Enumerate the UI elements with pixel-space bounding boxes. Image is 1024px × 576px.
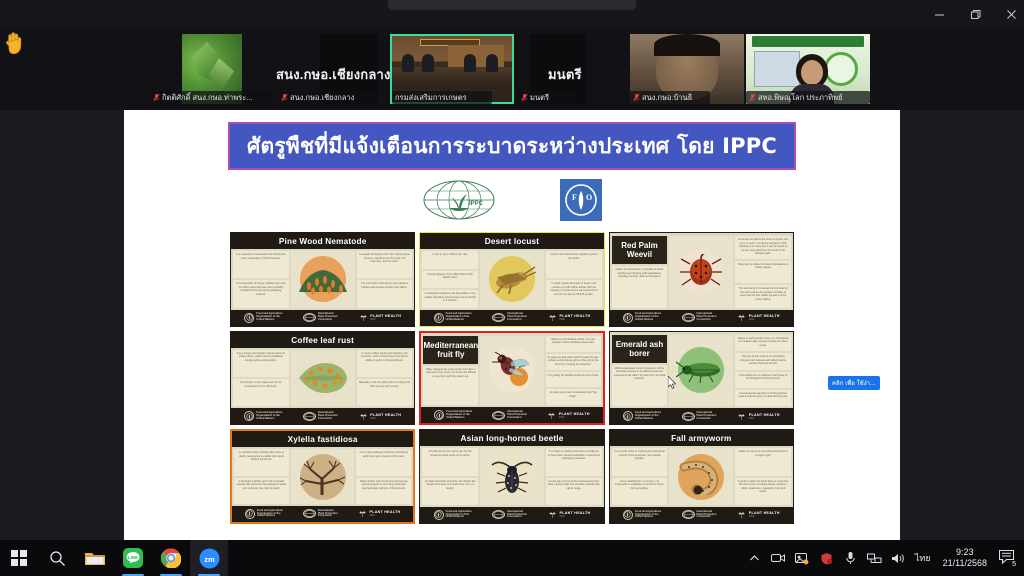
card-title: Asian long-horned beetle (420, 430, 603, 446)
clock-date: 21/11/2568 (943, 558, 987, 569)
footer-line3: Convention (318, 418, 338, 421)
card-body: Mediterranean fruit fly Baby maggots are… (421, 333, 602, 408)
card-body: Emerald ash borer Without adequate contr… (610, 332, 793, 409)
pest-card-coffee-leaf-rust[interactable]: Coffee leaf rust It is a fungus that att… (230, 331, 415, 426)
plant-health-year: 2020 (559, 416, 590, 419)
footer-line3: Convention (507, 417, 527, 420)
card-body: It is a species of nematode that infects… (231, 249, 414, 310)
footer-line3: United Nations (446, 417, 472, 420)
mute-icon (153, 93, 160, 102)
card-body: It is a fungus that attacks mainly leave… (231, 348, 414, 409)
plant-health-footer-logo: PLANT HEALTH2020 (547, 410, 590, 420)
pest-card-pine-wood-nematode[interactable]: Pine Wood Nematode It is a species of ne… (230, 232, 415, 327)
chrome-icon (161, 548, 181, 568)
clock-time: 9:23 (943, 547, 987, 558)
fao-footer-logo: Food and AgricultureOrganization of theU… (623, 313, 661, 323)
person-hair (654, 34, 720, 56)
fao-footer-logo: Food and AgricultureOrganization of theU… (434, 313, 472, 323)
card-title: Mediterranean fruit fly (423, 336, 478, 364)
card-footer: Food and AgricultureOrganization of theU… (420, 507, 603, 523)
restore-icon[interactable] (956, 0, 994, 28)
card-fact: A single square kilometer of swarm can c… (546, 280, 602, 307)
card-fact: It is a fungus that attacks mainly leave… (233, 350, 289, 377)
ippc-footer-logo: InternationalPlant ProtectionConvention (682, 412, 717, 421)
fao-footer-logo: Food and AgricultureOrganization of theU… (244, 313, 282, 323)
card-fact: It is a moth native to tropical and subt… (612, 448, 668, 475)
pest-card-emerald-ash-borer[interactable]: Emerald ash borer Without adequate contr… (609, 331, 794, 426)
card-fact: It covers coffee leaves and destroys cel… (357, 350, 413, 377)
participant-tile[interactable] (630, 34, 744, 104)
footer-line3: United Nations (446, 516, 472, 519)
show-hidden-icons-chevron[interactable] (747, 551, 762, 566)
virtual-background-banner (752, 36, 864, 47)
card-title: Xylella fastidiosa (232, 431, 413, 447)
card-fact: It spreads throughout the resin canal sy… (357, 251, 413, 278)
card-fact: It is a species of nematode that infects… (233, 251, 289, 278)
mute-icon (281, 93, 288, 102)
camera-icon[interactable] (771, 551, 786, 566)
footer-line3: United Nations (256, 418, 282, 421)
plant-health-year: 2020 (560, 515, 591, 518)
plant-health-footer-logo: PLANT HEALTH2020 (358, 411, 401, 421)
notification-count: 5 (1010, 560, 1018, 569)
card-body: In Southern Italy it attacks olive trees… (232, 447, 413, 506)
fao-logo: F O (560, 179, 602, 221)
ippc-footer-logo: InternationalPlant ProtectionConvention (682, 510, 717, 519)
logo-row: IPPC F O (228, 174, 796, 226)
footer-line3: United Nations (257, 515, 283, 518)
ippc-footer-logo: InternationalPlant ProtectionConvention (492, 411, 527, 420)
footer-line3: Convention (697, 319, 717, 322)
plant-health-year: 2020 (560, 318, 591, 321)
card-fact: Native to sub-Saharan Africa, it is now … (546, 336, 601, 352)
participant-filmstrip: กิตติศักดิ์ สนง.กษอ.ท่าพระ... สนง.กษอ.เช… (0, 28, 1024, 110)
fao-footer-logo: Food and AgricultureOrganization of theU… (623, 411, 661, 421)
card-fact: Its eggs are deposited right beneath the… (546, 354, 601, 370)
zoom-app-icon: zm (199, 548, 220, 569)
person-silhouette (402, 54, 414, 72)
card-footer: Food and AgricultureOrganization of theU… (610, 310, 793, 326)
card-fact: It is the most destructive migratory pes… (546, 251, 602, 278)
line-app-icon: LINE (123, 548, 143, 568)
card-illustration (669, 335, 733, 407)
card-fact: Dogs can be trained to detect infestatio… (735, 261, 791, 284)
person-figure (790, 54, 834, 104)
card-fact: Native to north-eastern Asia, it is cons… (735, 335, 791, 351)
footer-line3: Convention (507, 319, 527, 322)
presentation-slide: ศัตรูพืชที่มีแจ้งเตือนการระบาดระหว่างประ… (228, 122, 796, 528)
card-fact: Its Latin name can be translated into "b… (546, 389, 601, 405)
pest-card-mediterranean-fruit-fly[interactable]: Mediterranean fruit fly Baby maggots are… (419, 331, 604, 426)
card-fact: Adults can fly up to a hundred kilometer… (735, 448, 791, 475)
plant-health-year: 2020 (370, 318, 401, 321)
person-silhouette (486, 54, 498, 72)
pest-card-desert-locust[interactable]: Desert locust It can fly up to 150 km pe… (419, 232, 604, 327)
system-tray: ไทย 9:23 21/11/2568 5 (747, 540, 1024, 576)
footer-line3: United Nations (635, 516, 661, 519)
card-fact: The loss of ash trees in an ecosystem ch… (735, 353, 791, 369)
participant-tile[interactable] (746, 34, 870, 104)
language-indicator[interactable]: ไทย (915, 551, 931, 565)
card-body: It is also known as "starry sky" for the… (420, 446, 603, 507)
floating-tooltip-badge[interactable]: คลิก เพื่อ ใช้ง่า... (828, 376, 880, 390)
plant-health-footer-logo: PLANT HEALTH2020 (358, 313, 401, 323)
footer-line3: United Nations (635, 319, 661, 322)
card-fact: It is native to eastern Asia and it is b… (546, 448, 602, 475)
pest-card-grid: Pine Wood Nematode It is a species of ne… (230, 232, 794, 524)
footer-line3: United Nations (446, 319, 472, 322)
card-fact: It is a plant pathogen that lives and th… (356, 449, 411, 475)
raised-hand-icon (0, 28, 30, 58)
fao-footer-logo: Food and AgricultureOrganization of theU… (245, 509, 283, 519)
start-button[interactable] (0, 540, 38, 576)
zoom-button[interactable]: zm (190, 540, 228, 576)
plant-health-footer-logo: PLANT HEALTH2020 (737, 411, 780, 421)
card-fact: Governmental agencies in North America u… (735, 390, 791, 406)
card-fact: Baby maggots are super small, less than … (423, 366, 478, 406)
svg-text:IPPC: IPPC (469, 201, 484, 207)
card-title: Desert locust (420, 233, 603, 249)
card-title: Coffee leaf rust (231, 332, 414, 348)
card-title: Pine Wood Nematode (231, 233, 414, 249)
chrome-button[interactable] (152, 540, 190, 576)
card-illustration (291, 350, 355, 407)
file-explorer-button[interactable] (76, 540, 114, 576)
card-fact: In Southern Italy it attacks olive trees… (234, 449, 289, 475)
card-fact: It is also known as "starry sky" for the… (422, 448, 478, 475)
card-body: Red Palm Weevil Native to tropical Asia,… (610, 233, 793, 310)
card-fact: It is greedy for Mediterranean summer fr… (546, 372, 601, 388)
card-illustration (480, 448, 544, 505)
card-fact: It develops a biofilm gel in the lymphat… (234, 478, 289, 504)
card-fact: In the Republic of Korea, it killed more… (233, 280, 289, 307)
plant-health-footer-logo: PLANT HEALTH2020 (358, 509, 401, 519)
plant-health-year: 2020 (749, 417, 780, 420)
plant-health-footer-logo: PLANT HEALTH2020 (737, 313, 780, 323)
plant-health-year: 2020 (370, 417, 401, 420)
notification-center-button[interactable]: 5 (999, 550, 1016, 567)
card-fact: It prefers maize but feeds also on more … (735, 478, 791, 505)
card-footer: Food and AgricultureOrganization of theU… (610, 507, 793, 523)
fao-footer-logo: Food and AgricultureOrganization of theU… (244, 411, 282, 421)
card-title: Red Palm Weevil (612, 236, 668, 264)
person-silhouette (464, 54, 476, 72)
card-footer: Food and AgricultureOrganization of theU… (610, 408, 793, 424)
plant-health-year: 2020 (749, 318, 780, 321)
ippc-logo: IPPC (422, 178, 496, 222)
minimize-icon[interactable] (920, 0, 958, 28)
shared-screen-area: ศัตรูพืชที่มีแจ้งเตือนการระบาดระหว่างประ… (124, 110, 900, 540)
participant-display-name: มนตรี (548, 64, 582, 85)
card-footer: Food and AgricultureOrganization of theU… (420, 310, 603, 326)
card-fact: Once established in a country, it is imp… (612, 478, 668, 505)
card-illustration (480, 336, 543, 406)
card-footer: Food and AgricultureOrganization of theU… (231, 310, 414, 326)
svg-text:LINE: LINE (128, 555, 138, 560)
card-fact: Basically, it lets the plant with no ene… (357, 379, 413, 406)
card-illustration (291, 449, 354, 504)
shield-icon[interactable] (819, 551, 834, 566)
fao-footer-logo: Food and AgricultureOrganization of theU… (434, 510, 472, 520)
ippc-footer-logo: InternationalPlant ProtectionConvention (682, 313, 717, 322)
titlebar-center-tab (388, 0, 636, 10)
ippc-footer-logo: InternationalPlant ProtectionConvention (303, 509, 338, 518)
card-fact: Water deficit, leaf scorch and stunting … (356, 478, 411, 504)
fao-footer-logo: Food and AgricultureOrganization of theU… (623, 510, 661, 520)
participant-display-name: สนง.กษอ.เชียงกลาง (276, 64, 391, 85)
slide-title: ศัตรูพืชที่มีแจ้งเตือนการระบาดระหว่างประ… (228, 122, 796, 170)
line-button[interactable]: LINE (114, 540, 152, 576)
card-footer: Food and AgricultureOrganization of theU… (421, 407, 602, 423)
card-fact: Without adequate control measures, all t… (612, 365, 668, 407)
footer-line3: Convention (318, 319, 338, 322)
pest-card-red-palm-weevil[interactable]: Red Palm Weevil Native to tropical Asia,… (609, 232, 794, 327)
svg-text:zm: zm (204, 555, 215, 564)
card-body: It is a moth native to tropical and subt… (610, 446, 793, 507)
participant-tile[interactable] (182, 34, 242, 104)
card-fact: Its infection is very rapid and can be c… (233, 379, 289, 406)
plant-health-footer-logo: PLANT HEALTH2020 (737, 510, 780, 520)
screenshot-icon[interactable] (795, 551, 810, 566)
volume-icon[interactable] (891, 551, 906, 566)
card-fact: It can fly up to 150 km per day. (422, 251, 478, 269)
card-fact: Its black and white antennae can double … (422, 478, 478, 505)
ippc-footer-logo: InternationalPlant ProtectionConvention (303, 412, 338, 421)
card-title: Fall armyworm (610, 430, 793, 446)
card-fact: During plagues, it can affect 20% of the… (422, 271, 478, 289)
folder-icon (85, 550, 105, 566)
zoom-window: กิตติศักดิ์ สนง.กษอ.ท่าพระ... สนง.กษอ.เช… (0, 0, 1024, 540)
clock[interactable]: 9:23 21/11/2568 (940, 547, 990, 568)
person-silhouette (422, 54, 434, 72)
close-icon[interactable] (992, 0, 1024, 28)
card-title: Emerald ash borer (612, 335, 668, 363)
window-titlebar (0, 0, 1024, 28)
participant-tile-active[interactable] (390, 34, 514, 104)
card-fact: It has killed tens of millions of ash tr… (735, 372, 791, 388)
pest-card-asian-long-horned-beetle[interactable]: Asian long-horned beetle It is also know… (419, 429, 604, 524)
card-fact: Its larvae can pierce the trunk of a pal… (735, 236, 791, 259)
card-footer: Food and AgricultureOrganization of theU… (232, 506, 413, 522)
pest-card-fall-armyworm[interactable]: Fall armyworm It is a moth native to tro… (609, 429, 794, 524)
card-fact: Larvae dig a tunnel to the heartwood as … (546, 478, 602, 505)
ippc-footer-logo: InternationalPlant ProtectionConvention (492, 510, 527, 519)
search-button[interactable] (38, 540, 76, 576)
card-fact: Native to tropical Asia, it spreads to A… (612, 266, 668, 308)
windows-taskbar: LINE zm (0, 540, 1024, 576)
plant-health-year: 2020 (370, 514, 401, 517)
card-footer: Food and AgricultureOrganization of theU… (231, 408, 414, 424)
svg-text:O: O (586, 193, 592, 202)
plant-health-footer-logo: PLANT HEALTH2020 (548, 313, 591, 323)
footer-line3: Convention (697, 516, 717, 519)
card-illustration (291, 251, 355, 308)
svg-text:F: F (572, 193, 577, 202)
card-body: It can fly up to 150 km per day. During … (420, 249, 603, 310)
footer-line3: Convention (507, 516, 527, 519)
network-icon[interactable] (867, 551, 882, 566)
mute-icon (521, 93, 528, 102)
ippc-footer-logo: InternationalPlant ProtectionConvention (492, 313, 527, 322)
pest-card-xylella-fastidiosa[interactable]: Xylella fastidiosa In Southern Italy it … (230, 429, 415, 524)
card-illustration (480, 251, 544, 308)
card-illustration (669, 236, 733, 308)
card-fact: It is most often vectored by pine sawyer… (357, 280, 413, 307)
ippc-footer-logo: InternationalPlant ProtectionConvention (303, 313, 338, 322)
microphone-icon[interactable] (843, 551, 858, 566)
search-icon (49, 550, 66, 567)
card-fact: If ecological conditions are favourable,… (422, 290, 478, 308)
plant-health-year: 2020 (749, 515, 780, 518)
footer-line3: United Nations (256, 319, 282, 322)
card-illustration (669, 448, 733, 505)
plant-health-footer-logo: PLANT HEALTH2020 (548, 510, 591, 520)
card-fact: The burrowing of its larvae into the hea… (735, 285, 791, 308)
footer-line3: Convention (697, 418, 717, 421)
footer-line3: Convention (318, 515, 338, 518)
footer-line3: United Nations (635, 418, 661, 421)
fao-footer-logo: Food and AgricultureOrganization of theU… (434, 410, 472, 420)
